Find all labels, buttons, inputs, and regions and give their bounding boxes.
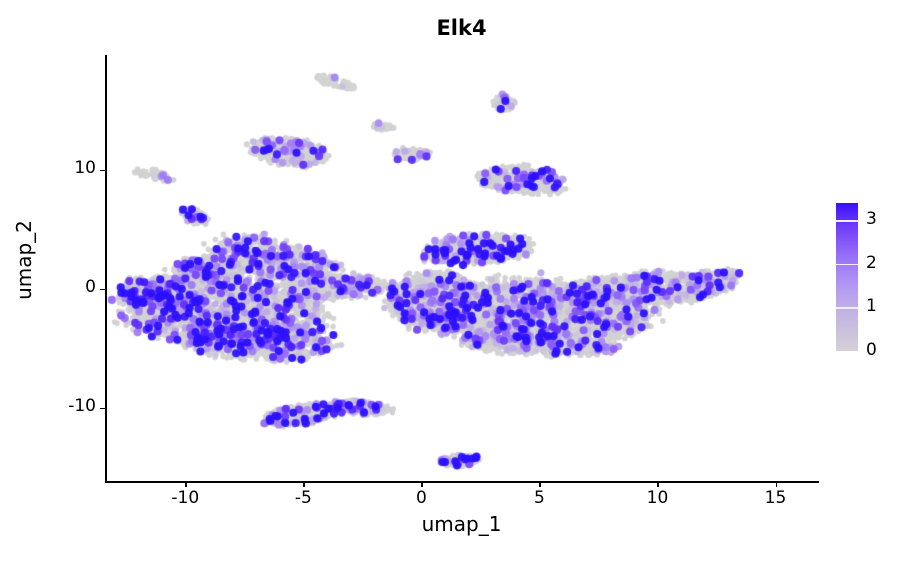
x-tick-label: 0 (386, 488, 456, 508)
x-tick-label: 5 (504, 488, 574, 508)
x-tick-label: 10 (622, 488, 692, 508)
colorbar-gradient (836, 203, 858, 351)
scatter-plot (105, 55, 818, 482)
x-tick-mark (539, 482, 540, 487)
colorbar-tick-mark (836, 307, 858, 309)
x-axis-label: umap_1 (105, 512, 818, 536)
y-tick-mark (100, 170, 105, 171)
x-tick-mark (657, 482, 658, 487)
x-tick-label: 15 (741, 488, 811, 508)
x-tick-mark (421, 482, 422, 487)
y-tick-label: -10 (24, 396, 96, 416)
page-title: Elk4 (105, 16, 818, 40)
y-axis-spine (105, 55, 107, 483)
plot-axes-area (105, 55, 818, 482)
x-tick-label: -5 (268, 488, 338, 508)
x-tick-mark (185, 482, 186, 487)
y-axis-label: umap_2 (12, 160, 36, 360)
colorbar-tick-label: 1 (866, 296, 877, 316)
colorbar-tick-label: 2 (866, 253, 877, 273)
colorbar-tick-mark (836, 220, 858, 222)
x-tick-mark (776, 482, 777, 487)
x-tick-mark (303, 482, 304, 487)
colorbar-tick-label: 3 (866, 209, 877, 229)
colorbar-tick-mark (836, 264, 858, 266)
colorbar-tick-label: 0 (866, 340, 877, 360)
y-tick-mark (100, 289, 105, 290)
x-axis-spine (105, 481, 819, 483)
figure-canvas: Elk4 -10-5051015 100-10 umap_1 umap_2 01… (0, 0, 911, 562)
x-tick-label: -10 (150, 488, 220, 508)
y-tick-mark (100, 408, 105, 409)
